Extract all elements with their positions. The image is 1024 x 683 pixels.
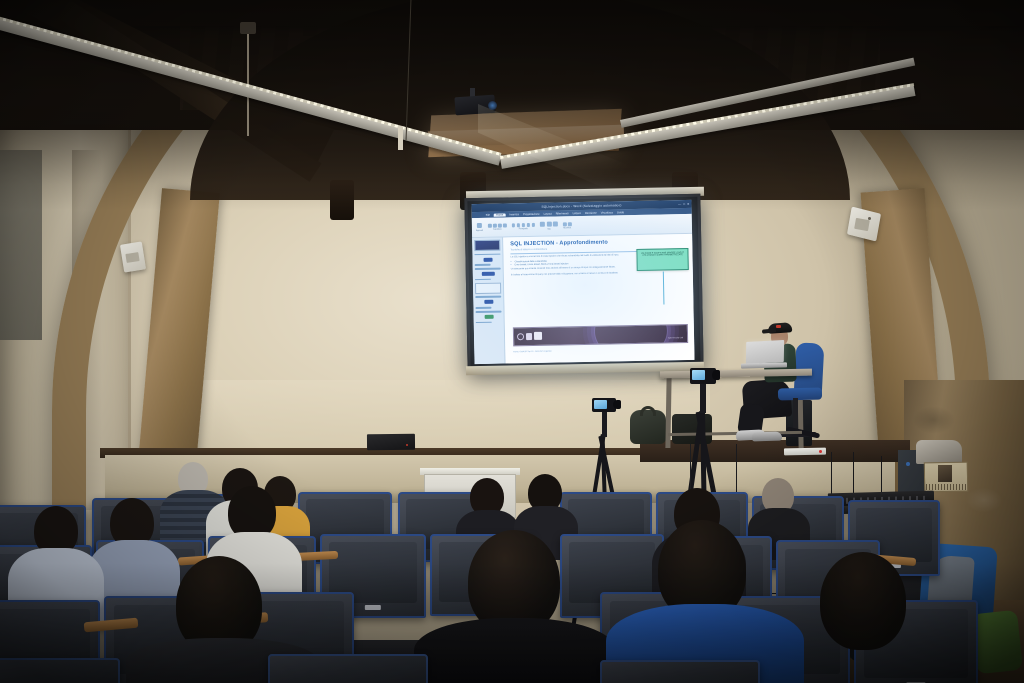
ribbon-tab-riferimenti[interactable]: Riferimenti (556, 212, 569, 215)
tripod-column (602, 411, 607, 437)
banner-arc-decoration (593, 324, 668, 346)
banner-shield-icon (534, 332, 542, 340)
window-controls[interactable]: — □ ✕ (678, 201, 689, 205)
nav-placeholder-line (475, 268, 501, 270)
banner-circle-icon (517, 333, 524, 340)
ribbon-group-label: Stili (547, 228, 550, 230)
camera-lens-icon (613, 400, 621, 409)
light-ceiling-mount (240, 22, 256, 34)
ribbon-group-label: Appunti (476, 230, 483, 232)
banner-caption: Cybersecurity Lab (668, 337, 683, 339)
projection-screen-surface[interactable]: SQLInjection.docx - Word (Salvataggio au… (471, 200, 694, 364)
ribbon-tab-layout[interactable]: Layout (544, 212, 552, 215)
nav-thumbnail[interactable] (474, 240, 500, 251)
align-center-icon[interactable] (526, 223, 530, 227)
object-on-cabinet (916, 440, 962, 464)
cabinet-sticker-icon (906, 462, 910, 466)
nav-placeholder-line (475, 307, 491, 309)
cap-logo-icon (776, 325, 781, 328)
nav-placeholder-line (476, 321, 492, 323)
light-suspension-rod (247, 26, 249, 136)
nav-heading-chip[interactable] (483, 257, 492, 261)
nav-placeholder-line (475, 264, 491, 266)
styles-gallery[interactable] (540, 222, 558, 227)
nav-heading-chip[interactable] (484, 300, 493, 304)
ribbon-tab-revisione[interactable]: Revisione (585, 211, 597, 214)
minimize-icon[interactable]: — (678, 202, 681, 206)
paste-icon[interactable] (477, 223, 482, 228)
ribbon-group-label: Modifica (563, 227, 571, 229)
banner-icon-group (517, 332, 542, 340)
nav-heading-chip[interactable] (481, 272, 494, 276)
speaker-grill (854, 218, 870, 231)
ribbon-tab-lettere[interactable]: Lettere (573, 212, 581, 215)
bullet-list-icon[interactable] (511, 223, 515, 227)
presenter-laptop-screen[interactable] (746, 340, 784, 364)
ribbon-tab-progettazione[interactable]: Progettazione (523, 212, 540, 215)
ribbon-group-stili[interactable]: Stili (540, 222, 558, 231)
ribbon-tab-guida[interactable]: Guida (617, 211, 624, 214)
green-bag (971, 610, 1023, 674)
paragraph-controls-row[interactable] (511, 223, 535, 227)
close-icon[interactable]: ✕ (687, 201, 690, 205)
auditorium-scene: SQLInjection.docx - Word (Salvataggio au… (0, 0, 1024, 683)
framed-picture-portrait (938, 465, 952, 482)
editing-controls-row[interactable] (563, 222, 572, 226)
ribbon-group-label: Paragrafo (519, 228, 528, 230)
style-titolo2-icon[interactable] (553, 222, 558, 227)
equipment-case (367, 434, 415, 450)
ribbon-group-carattere[interactable]: Carattere (488, 223, 507, 230)
nav-placeholder-line (474, 253, 500, 255)
light-rail-hanger (398, 126, 403, 150)
bold-icon[interactable] (488, 224, 492, 228)
ribbon-tab-inserisci[interactable]: Inserisci (509, 213, 519, 216)
office-chair-seat (778, 388, 822, 401)
style-titolo1-icon[interactable] (546, 222, 551, 227)
navigation-pane[interactable] (472, 238, 505, 365)
callout-connector-line (663, 271, 664, 304)
banner-square-icon (526, 332, 532, 339)
document-footnote: Fonte: OWASP Top 10 - A03:2021 Injection (513, 351, 551, 354)
camcorder-lcd-screen (692, 370, 705, 380)
auditorium-seat[interactable] (268, 654, 428, 683)
replace-icon[interactable] (568, 222, 572, 226)
style-normale-icon[interactable] (540, 222, 545, 227)
presenter-shoe (752, 431, 782, 441)
camcorder-lcd-screen (594, 400, 607, 409)
ribbon-tab-home[interactable]: Home (494, 213, 505, 216)
app-body: SQL INJECTION - Approfondimento Tecniche… (472, 234, 694, 364)
power-led-icon (406, 444, 408, 446)
align-left-icon[interactable] (521, 223, 525, 227)
nav-thumbnail[interactable] (475, 282, 501, 293)
upper-wall-shadow (0, 0, 1024, 210)
framed-picture-caption (926, 484, 966, 490)
numbered-list-icon[interactable] (516, 223, 520, 227)
ribbon-tab-visualizza[interactable]: Visualizza (601, 211, 613, 214)
camera-lens-icon (712, 370, 720, 380)
document-canvas[interactable]: SQL INJECTION - Approfondimento Tecniche… (503, 234, 694, 364)
nav-placeholder-line (475, 296, 501, 298)
search-icon[interactable] (563, 222, 567, 226)
document-banner-image: Cybersecurity Lab (513, 324, 688, 346)
auditorium-seat[interactable] (600, 660, 760, 683)
speaker-led-icon (868, 217, 871, 220)
nav-placeholder-line (475, 279, 491, 281)
tripod-column (700, 383, 706, 413)
backpack-strap (640, 406, 656, 416)
attendee-torso (414, 618, 616, 683)
projector-lens-icon (488, 101, 497, 110)
ribbon-group-paragrafo[interactable]: Paragrafo (511, 223, 535, 230)
ribbon-group-modifica[interactable]: Modifica (563, 222, 572, 229)
maximize-icon[interactable]: □ (683, 202, 685, 206)
app-title-text: SQLInjection.docx - Word (Salvataggio au… (541, 203, 621, 209)
line-spacing-icon[interactable] (531, 223, 535, 227)
attendee-head (820, 552, 906, 650)
underline-icon[interactable] (498, 224, 502, 228)
document-paragraph: Il risultato e l'esecuzione di query non… (511, 271, 687, 278)
ribbon-group-appunti[interactable]: Appunti (476, 223, 483, 232)
auditorium-seat[interactable] (0, 658, 120, 683)
ribbon-tab-file[interactable]: File (486, 213, 490, 216)
font-color-icon[interactable] (503, 223, 507, 227)
italic-icon[interactable] (493, 224, 497, 228)
nav-heading-chip[interactable] (484, 315, 493, 319)
font-controls-row[interactable] (488, 223, 507, 227)
nav-placeholder-line (476, 311, 502, 313)
ribbon-group-label: Carattere (493, 229, 502, 231)
document-callout-box: VALIDARE E SANIFICARE SEMPRE L'INPUT UTI… (636, 248, 688, 271)
